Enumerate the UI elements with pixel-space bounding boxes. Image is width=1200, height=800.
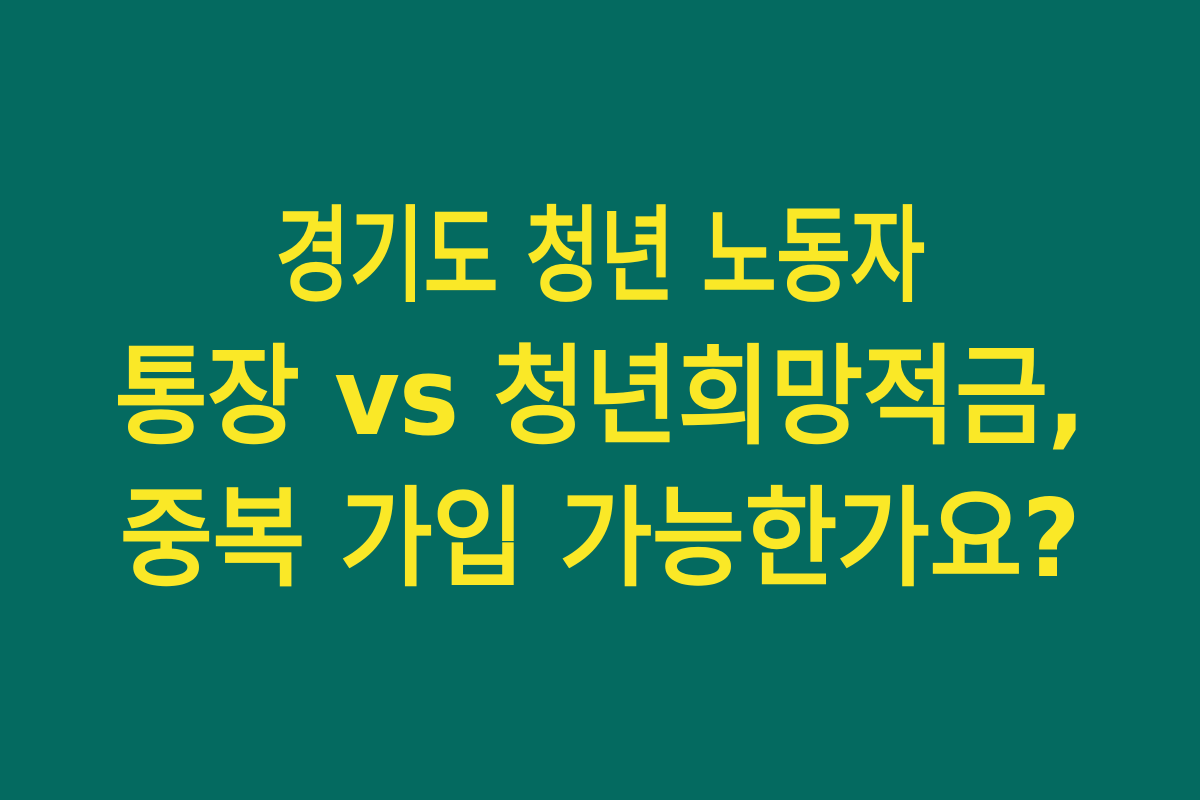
headline-line-2: 통장 vs 청년희망적금, <box>46 327 1153 469</box>
headline-line-1: 경기도 청년 노동자 <box>138 185 1061 327</box>
headline-spacer-1 <box>299 335 334 460</box>
headline-line-2-part-a: 통장 <box>115 335 300 460</box>
headline-line-2-part-b: 청년희망적금, <box>493 335 1085 460</box>
headline-vs-label: vs <box>334 335 458 460</box>
headline-line-3: 중복 가입 가능한가요? <box>46 469 1154 611</box>
banner-canvas: 경기도 청년 노동자 통장 vs 청년희망적금, 중복 가입 가능한가요? <box>0 0 1200 800</box>
headline-spacer-2 <box>458 335 493 460</box>
headline-block: 경기도 청년 노동자 통장 vs 청년희망적금, 중복 가입 가능한가요? <box>0 185 1200 611</box>
